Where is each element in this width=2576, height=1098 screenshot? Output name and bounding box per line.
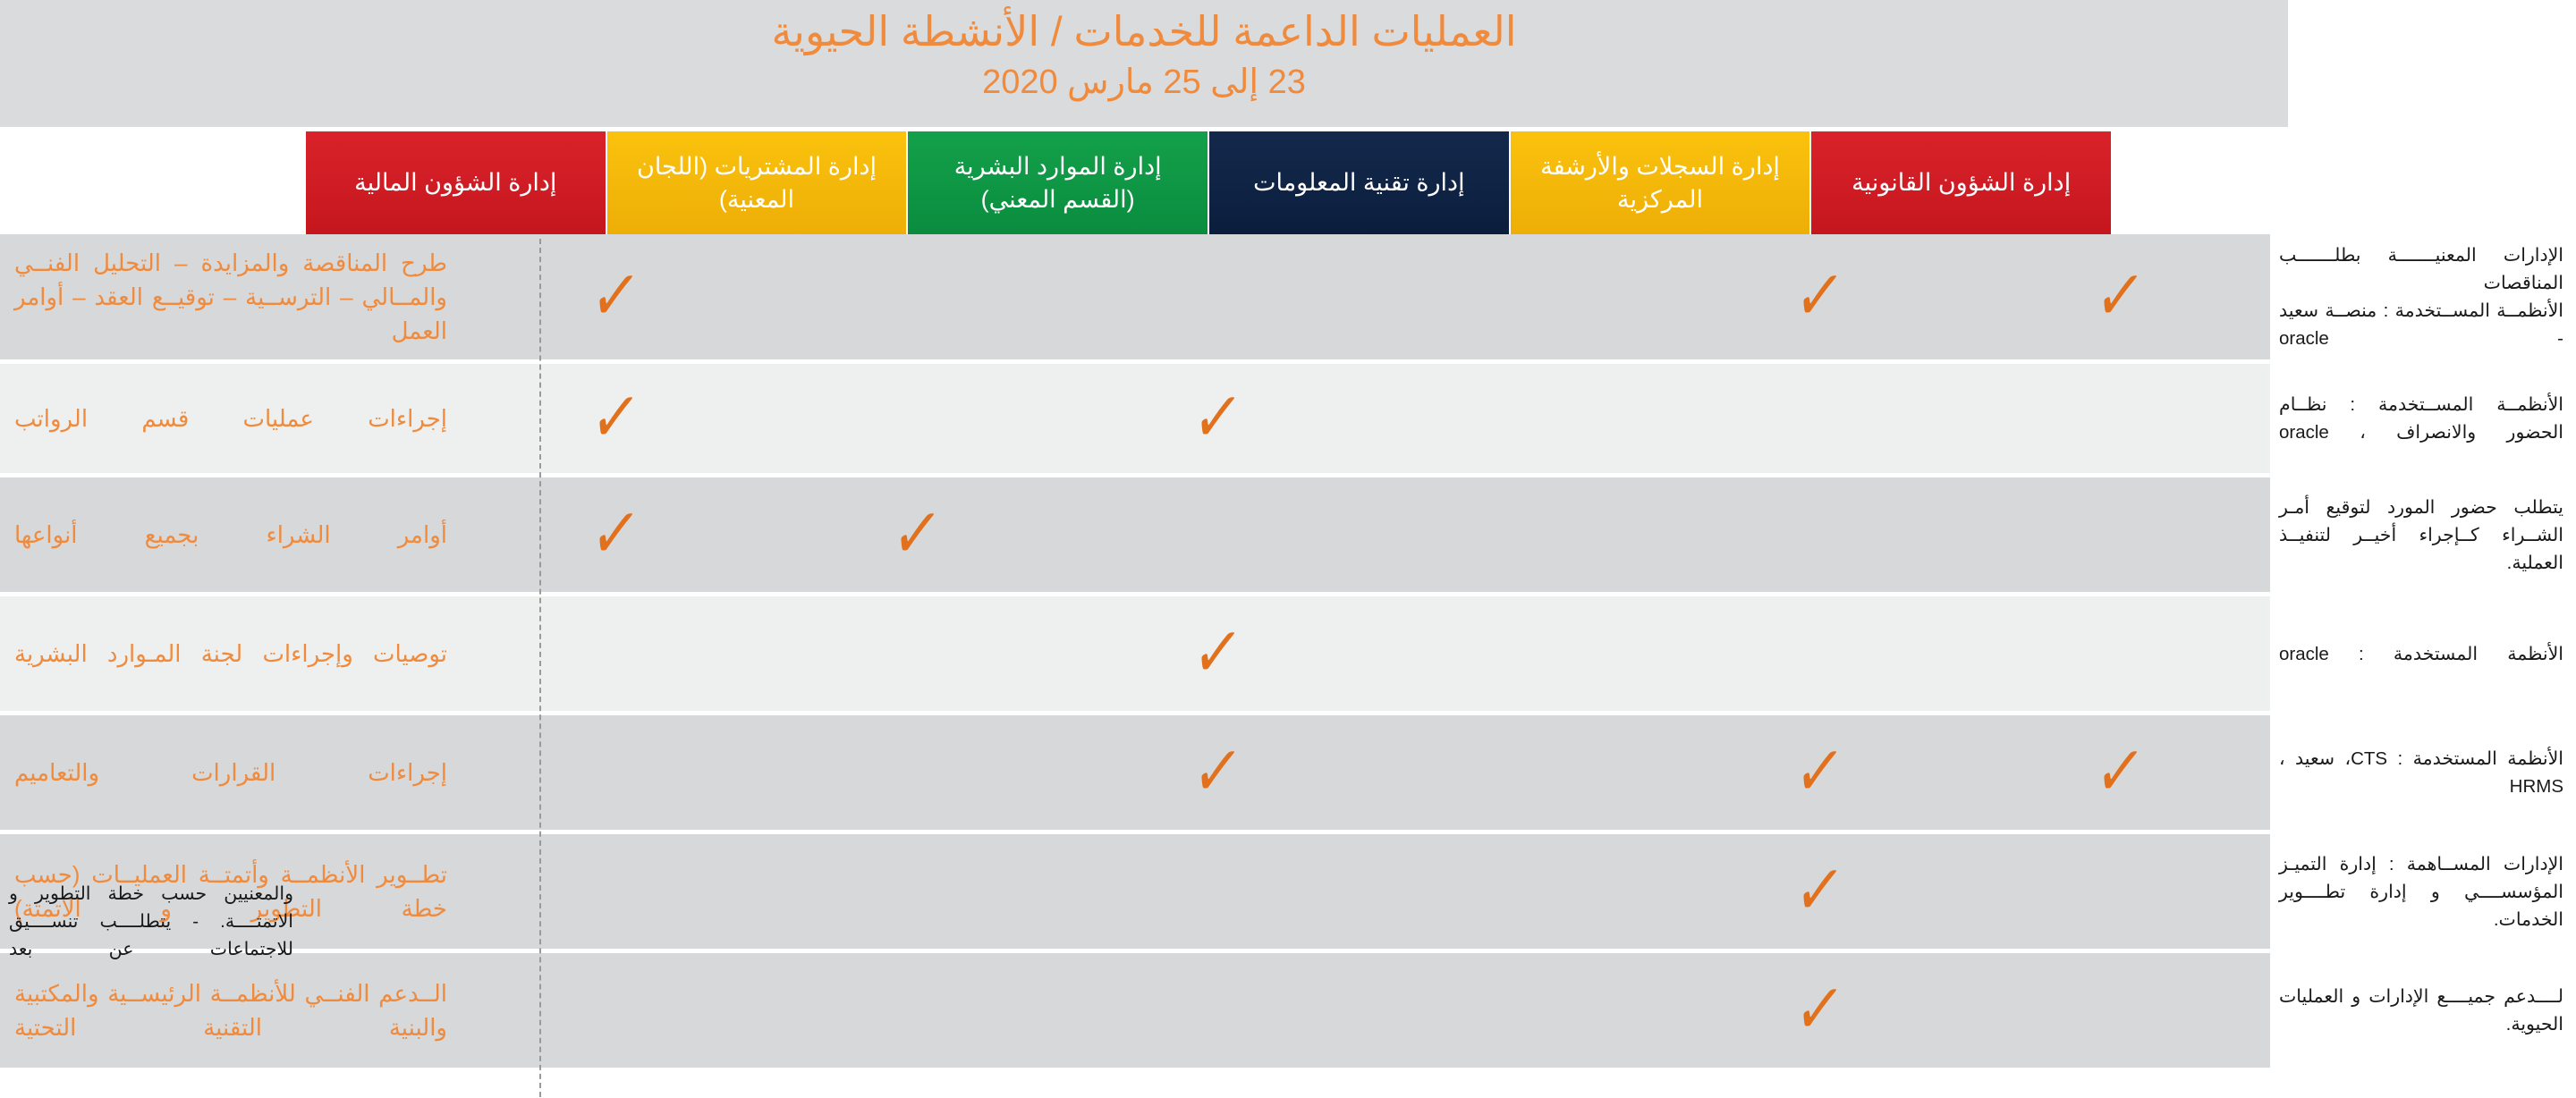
cell-information-technology[interactable] xyxy=(1368,953,1668,1068)
row-label-text: إجراءات عمليات قسم الرواتب xyxy=(14,401,447,435)
header-right-spacer xyxy=(2111,127,2576,234)
cell-human-resources[interactable] xyxy=(1067,234,1368,359)
cell-information-technology[interactable] xyxy=(1368,715,1668,830)
page-title: العمليات الداعمة للخدمات / الأنشطة الحيو… xyxy=(772,4,1517,59)
check-icon: ✓ xyxy=(2091,738,2148,807)
cell-legal-affairs[interactable] xyxy=(1970,834,2270,949)
cell-records-archiving[interactable]: ✓ xyxy=(1668,234,1969,359)
check-icon: ✓ xyxy=(1790,262,1847,332)
cell-records-archiving[interactable]: ✓ xyxy=(1668,834,1969,949)
cell-human-resources[interactable] xyxy=(1067,953,1368,1068)
column-header-label: إدارة السجلات والأرشفة المركزية xyxy=(1523,150,1798,216)
row-label-text: أوامر الشراء بجميع أنواعها xyxy=(14,518,447,552)
row-label-text: طرح المناقصة والمزايدة – التحليل الفنــي… xyxy=(14,246,447,348)
row-marks: ✓ ✓ ✓ xyxy=(465,715,2270,830)
page-subtitle: 23 إلى 25 مارس 2020 xyxy=(982,59,1306,106)
column-header-information-technology[interactable]: إدارة تقنية المعلومات xyxy=(1207,131,1509,234)
cell-records-archiving[interactable]: ✓ xyxy=(1668,953,1969,1068)
check-icon: ✓ xyxy=(587,500,644,570)
row-label: أوامر الشراء بجميع أنواعها xyxy=(0,477,465,592)
row-note-line: يتطلب حضور المورد لتوقيع أمـر الشــراء ك… xyxy=(2279,494,2563,577)
row-label: إجراءات القرارات والتعاميم xyxy=(0,715,465,830)
cell-records-archiving[interactable] xyxy=(1668,596,1969,711)
cell-human-resources[interactable]: ✓ xyxy=(1067,596,1368,711)
cell-legal-affairs[interactable] xyxy=(1970,953,2270,1068)
cell-legal-affairs[interactable]: ✓ xyxy=(1970,234,2270,359)
cell-legal-affairs[interactable] xyxy=(1970,477,2270,592)
cell-legal-affairs[interactable] xyxy=(1970,364,2270,473)
cell-information-technology[interactable] xyxy=(1368,477,1668,592)
cell-legal-affairs[interactable]: ✓ xyxy=(1970,715,2270,830)
cell-records-archiving[interactable] xyxy=(1668,477,1969,592)
cell-procurement[interactable] xyxy=(766,596,1066,711)
column-header-human-resources[interactable]: إدارة الموارد البشرية (القسم المعني) xyxy=(906,131,1207,234)
row-note-line: الأنظمة المستخدمة : CTS، سعيد ، HRMS xyxy=(2279,745,2563,800)
row-label: توصيات وإجراءات لجنة المـوارد البشرية xyxy=(0,596,465,711)
cell-financial-affairs[interactable] xyxy=(465,834,766,949)
row-note-line: الأنظمة المستخدمة : oracle xyxy=(2279,640,2563,668)
header-left-spacer xyxy=(0,127,306,234)
check-icon: ✓ xyxy=(1189,619,1246,688)
cell-procurement[interactable] xyxy=(766,834,1066,949)
cell-procurement[interactable] xyxy=(766,953,1066,1068)
cell-records-archiving[interactable] xyxy=(1668,364,1969,473)
cell-human-resources[interactable] xyxy=(1067,834,1368,949)
column-header-financial-affairs[interactable]: إدارة الشؤون المالية xyxy=(306,131,606,234)
cell-financial-affairs[interactable]: ✓ xyxy=(465,364,766,473)
cell-financial-affairs[interactable] xyxy=(465,596,766,711)
row-label-text: إجراءات القرارات والتعاميم xyxy=(14,756,447,790)
row-notes: الأنظمــة المســتخدمة : نظــام الحضور وا… xyxy=(2270,364,2576,473)
row-marks: ✓ xyxy=(465,596,2270,711)
row-note-line: الأنظمــة المســتخدمة : نظــام الحضور وا… xyxy=(2279,391,2563,446)
table-row[interactable]: الأنظمة المستخدمة : oracle ✓ توصيات وإجر… xyxy=(0,596,2576,711)
check-icon: ✓ xyxy=(1189,738,1246,807)
check-icon: ✓ xyxy=(1790,857,1847,926)
check-icon: ✓ xyxy=(1790,738,1847,807)
column-header-label: إدارة تقنية المعلومات xyxy=(1253,166,1465,199)
column-header-label: إدارة الموارد البشرية (القسم المعني) xyxy=(920,150,1195,216)
row-notes: الإدارات المعنيـــــــة بطلـــــــب المن… xyxy=(2270,234,2576,359)
cell-information-technology[interactable] xyxy=(1368,364,1668,473)
check-icon: ✓ xyxy=(2091,262,2148,332)
cell-procurement[interactable] xyxy=(766,364,1066,473)
cell-information-technology[interactable] xyxy=(1368,596,1668,711)
row-label: إجراءات عمليات قسم الرواتب xyxy=(0,364,465,473)
row-note-line: الإدارات المســاهمة : إدارة التميـز المؤ… xyxy=(2279,850,2563,933)
row-marks: ✓ ✓ ✓ xyxy=(465,234,2270,359)
table-row[interactable]: الأنظمة المستخدمة : CTS، سعيد ، HRMS ✓ ✓… xyxy=(0,715,2576,830)
cell-financial-affairs[interactable] xyxy=(465,715,766,830)
banner-right-spacer xyxy=(2288,0,2576,127)
column-header-row: إدارة الشؤون القانونية إدارة السجلات وال… xyxy=(306,131,2111,234)
table-row[interactable]: لــــدعم جميــــع الإدارات و العمليات ال… xyxy=(0,953,2576,1068)
cell-information-technology[interactable] xyxy=(1368,834,1668,949)
check-icon: ✓ xyxy=(587,384,644,453)
cell-information-technology[interactable] xyxy=(1368,234,1668,359)
row-notes: الإدارات المســاهمة : إدارة التميـز المؤ… xyxy=(2270,834,2576,949)
row-marks: ✓ ✓ xyxy=(465,477,2270,592)
column-header-label: إدارة المشتريات (اللجان المعنية) xyxy=(620,150,894,216)
row-note-line: والمعنيين حسب خطة التطوير و الاتمتــــة.… xyxy=(9,880,293,963)
row-marks: ✓ xyxy=(465,834,2270,949)
row-notes: لــــدعم جميــــع الإدارات و العمليات ال… xyxy=(2270,953,2576,1068)
row-label-text: توصيات وإجراءات لجنة المـوارد البشرية xyxy=(14,637,447,671)
row-note-line: الإدارات المعنيـــــــة بطلـــــــب المن… xyxy=(2279,241,2563,297)
slide-root: العمليات الداعمة للخدمات / الأنشطة الحيو… xyxy=(0,0,2576,1098)
table-row[interactable]: الإدارات المســاهمة : إدارة التميـز المؤ… xyxy=(0,834,2576,949)
column-header-label: إدارة الشؤون القانونية xyxy=(1851,166,2071,199)
check-icon: ✓ xyxy=(887,500,945,570)
column-header-records-archiving[interactable]: إدارة السجلات والأرشفة المركزية xyxy=(1509,131,1810,234)
row-label: الــدعم الفنــي للأنظمــة الرئيســية وال… xyxy=(0,953,465,1068)
cell-human-resources[interactable] xyxy=(1067,477,1368,592)
cell-legal-affairs[interactable] xyxy=(1970,596,2270,711)
cell-procurement[interactable]: ✓ xyxy=(766,477,1066,592)
row-label-text: الــدعم الفنــي للأنظمــة الرئيســية وال… xyxy=(14,976,447,1044)
cell-records-archiving[interactable]: ✓ xyxy=(1668,715,1969,830)
table-row[interactable]: الأنظمــة المســتخدمة : نظــام الحضور وا… xyxy=(0,364,2576,473)
row-notes: يتطلب حضور المورد لتوقيع أمـر الشــراء ك… xyxy=(2270,477,2576,592)
column-header-legal-affairs[interactable]: إدارة الشؤون القانونية xyxy=(1809,131,2111,234)
cell-human-resources[interactable]: ✓ xyxy=(1067,364,1368,473)
row-marks: ✓ xyxy=(465,953,2270,1068)
matrix-body: الإدارات المعنيـــــــة بطلـــــــب المن… xyxy=(0,234,2576,1072)
column-header-label: إدارة الشؤون المالية xyxy=(354,166,556,199)
cell-financial-affairs[interactable]: ✓ xyxy=(465,234,766,359)
check-icon: ✓ xyxy=(1189,384,1246,453)
title-banner: العمليات الداعمة للخدمات / الأنشطة الحيو… xyxy=(0,0,2288,127)
table-row[interactable]: يتطلب حضور المورد لتوقيع أمـر الشــراء ك… xyxy=(0,477,2576,592)
cell-financial-affairs[interactable]: ✓ xyxy=(465,477,766,592)
check-icon: ✓ xyxy=(1790,976,1847,1045)
row-notes-overflow: والمعنيين حسب خطة التطوير و الاتمتــــة.… xyxy=(0,880,306,963)
check-icon: ✓ xyxy=(587,262,644,332)
cell-procurement[interactable] xyxy=(766,234,1066,359)
cell-human-resources[interactable]: ✓ xyxy=(1067,715,1368,830)
table-row[interactable]: الإدارات المعنيـــــــة بطلـــــــب المن… xyxy=(0,234,2576,359)
column-header-procurement[interactable]: إدارة المشتريات (اللجان المعنية) xyxy=(606,131,907,234)
matrix-grid: إدارة الشؤون القانونية إدارة السجلات وال… xyxy=(0,127,2576,1098)
cell-procurement[interactable] xyxy=(766,715,1066,830)
row-notes: الأنظمة المستخدمة : CTS، سعيد ، HRMS xyxy=(2270,715,2576,830)
row-note-line: الأنظمــة المســتخدمة : منصــة سعيد - or… xyxy=(2279,297,2563,352)
row-notes: الأنظمة المستخدمة : oracle xyxy=(2270,596,2576,711)
row-note-line: لــــدعم جميــــع الإدارات و العمليات ال… xyxy=(2279,983,2563,1038)
row-label: طرح المناقصة والمزايدة – التحليل الفنــي… xyxy=(0,234,465,359)
cell-financial-affairs[interactable] xyxy=(465,953,766,1068)
row-marks: ✓ ✓ xyxy=(465,364,2270,473)
